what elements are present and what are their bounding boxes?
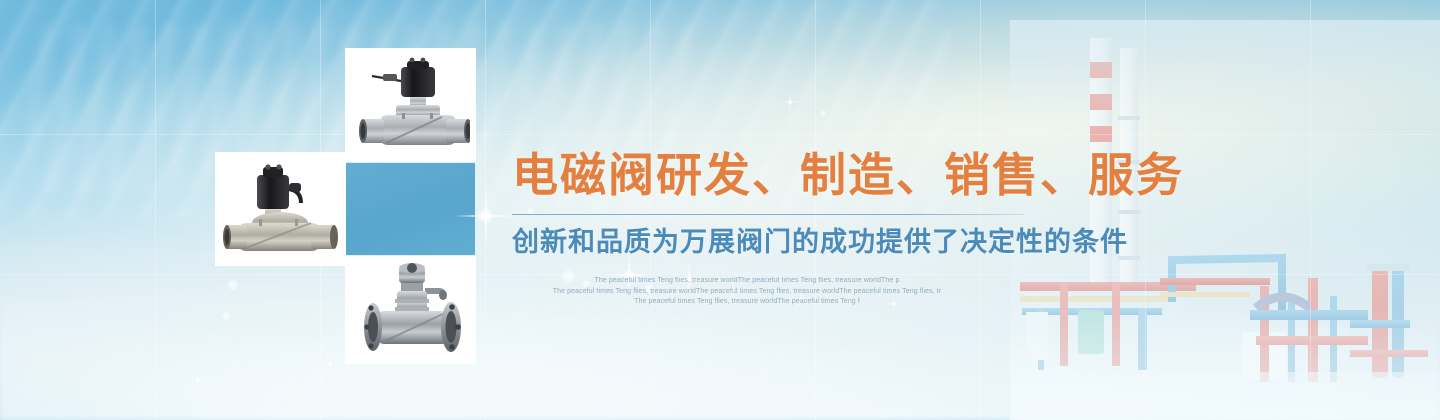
threaded-solenoid-valve-angled-icon [223,157,339,261]
flange-right [441,302,461,352]
flanged-solenoid-valve-icon [351,261,471,359]
flange-left [364,303,382,351]
vertical-vessels [1350,264,1428,378]
headline-divider [512,214,1024,215]
banner-blurb: The peaceful times Teng flies, treasure … [512,276,982,308]
banner-headline: 电磁阀研发、制造、销售、服务 [512,148,1112,202]
hero-banner: 电磁阀研发、制造、销售、服务 创新和品质为万展阀门的成功提供了决定性的条件 Th… [0,0,1440,420]
blurb-line-2: The peaceful times Teng flies, treasure … [497,287,997,298]
product-tile-1[interactable] [345,48,476,162]
threaded-solenoid-valve-side-icon [352,53,470,157]
blurb-line-1: The peaceful times Teng flies, treasure … [512,276,982,287]
banner-copy: 电磁阀研发、制造、销售、服务 创新和品质为万展阀门的成功提供了决定性的条件 Th… [512,148,1112,308]
banner-subheadline: 创新和品质为万展阀门的成功提供了决定性的条件 [512,226,1112,260]
product-tile-2[interactable] [215,152,346,266]
heat-exchanger-skid [1238,278,1368,386]
accent-tile-blue-right [345,163,475,255]
product-tile-mosaic [0,0,520,420]
blurb-line-3: The peaceful times Teng flies, treasure … [557,297,937,308]
product-tile-3[interactable] [345,256,476,364]
